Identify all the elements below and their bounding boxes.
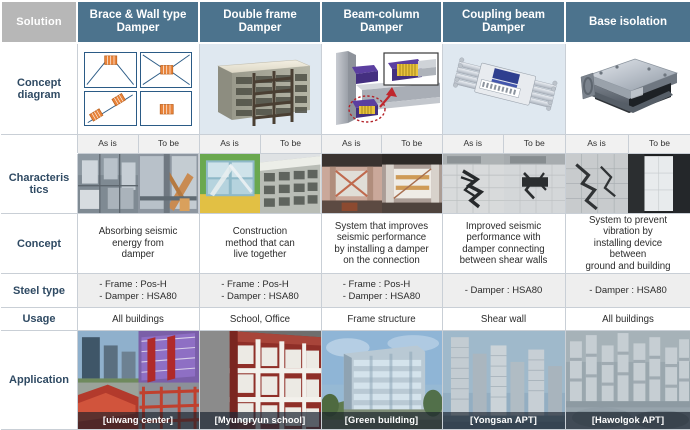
subheader-as-is: As is — [566, 135, 629, 153]
diagram-coupling-beam-damper — [442, 43, 565, 135]
comparison-table: Solution Brace & Wall type Damper Double… — [0, 0, 690, 430]
subheader-group-coupling-beam: As is To be — [442, 135, 565, 154]
row-characteristics: Characteris tics — [1, 153, 690, 213]
characteristics-photos-base-isolation — [565, 153, 690, 213]
subheader-to-be: To be — [382, 135, 442, 153]
header-col-brace-wall[interactable]: Brace & Wall type Damper — [77, 1, 199, 43]
application-caption: [Yongsan APT] — [443, 412, 565, 429]
photo-to-be — [260, 154, 321, 213]
subheader-group-brace-wall: As is To be — [77, 135, 199, 154]
header-col-double-frame[interactable]: Double frame Damper — [199, 1, 321, 43]
subheader-to-be: To be — [504, 135, 565, 153]
header-solution: Solution — [1, 1, 77, 43]
subheader-to-be: To be — [629, 135, 690, 153]
row-label-usage: Usage — [1, 308, 77, 331]
usage-base-isolation: All buildings — [565, 308, 690, 331]
usage-brace-wall: All buildings — [77, 308, 199, 331]
photo-to-be — [138, 154, 199, 213]
concept-double-frame: Construction method that can live togeth… — [199, 214, 321, 274]
diagram-double-frame-damper — [199, 43, 321, 135]
steel-type-brace-wall: - Frame : Pos-H - Damper : HSA80 — [77, 274, 199, 308]
header-col-base-isolation[interactable]: Base isolation — [565, 1, 690, 43]
row-application: Application — [1, 331, 690, 430]
application-double-frame: [Myungryun school] — [199, 331, 321, 430]
steel-type-beam-column: - Frame : Pos-H - Damper : HSA80 — [321, 274, 442, 308]
usage-double-frame: School, Office — [199, 308, 321, 331]
photo-to-be — [628, 154, 690, 213]
subheader-group-base-isolation: As is To be — [565, 135, 690, 154]
row-label-concept-diagram: Concept diagram — [1, 43, 77, 135]
concept-brace-wall: Absorbing seismic energy from damper — [77, 214, 199, 274]
application-beam-column: [Green building] — [321, 331, 442, 430]
row-concept-diagram: Concept diagram — [1, 43, 690, 135]
brace-diagram-grid — [84, 52, 192, 126]
row-label-spacer — [1, 135, 77, 154]
subheader-group-double-frame: As is To be — [199, 135, 321, 154]
solution-comparison-matrix: Solution Brace & Wall type Damper Double… — [0, 0, 690, 430]
characteristics-photos-beam-column — [321, 153, 442, 213]
photo-as-is — [200, 154, 261, 213]
characteristics-photos-coupling-beam — [442, 153, 565, 213]
brace-diagram-x-brace — [140, 52, 193, 88]
brace-diagram-wall-damper — [140, 91, 193, 127]
steel-type-double-frame: - Frame : Pos-H - Damper : HSA80 — [199, 274, 321, 308]
row-concept: Concept Absorbing seismic energy from da… — [1, 214, 690, 274]
photo-to-be — [382, 154, 442, 213]
subheader-group-beam-column: As is To be — [321, 135, 442, 154]
subheader-to-be: To be — [139, 135, 199, 153]
subheader-to-be: To be — [261, 135, 321, 153]
usage-coupling-beam: Shear wall — [442, 308, 565, 331]
application-caption: [Hawolgok APT] — [566, 412, 690, 429]
row-label-steel-type: Steel type — [1, 274, 77, 308]
table-header-row: Solution Brace & Wall type Damper Double… — [1, 1, 690, 43]
row-usage: Usage All buildings School, Office Frame… — [1, 308, 690, 331]
row-steel-type: Steel type - Frame : Pos-H - Damper : HS… — [1, 274, 690, 308]
brace-diagram-diagonal — [84, 91, 137, 127]
usage-beam-column: Frame structure — [321, 308, 442, 331]
photo-as-is — [566, 154, 629, 213]
row-label-concept: Concept — [1, 214, 77, 274]
subheader-as-is: As is — [78, 135, 139, 153]
photo-to-be — [504, 154, 565, 213]
subheader-as-is: As is — [200, 135, 261, 153]
subheader-as-is: As is — [443, 135, 505, 153]
concept-base-isolation: System to prevent vibration by installin… — [565, 214, 690, 274]
application-caption: [Myungryun school] — [200, 412, 321, 429]
steel-type-base-isolation: - Damper : HSA80 — [565, 274, 690, 308]
subheader-as-is: As is — [322, 135, 383, 153]
application-caption: [Green building] — [322, 412, 442, 429]
concept-beam-column: System that improves seismic performance… — [321, 214, 442, 274]
application-base-isolation: [Hawolgok APT] — [565, 331, 690, 430]
photo-as-is — [443, 154, 504, 213]
diagram-brace-wall-damper — [77, 43, 199, 135]
row-label-application: Application — [1, 331, 77, 430]
brace-diagram-chevron-up — [84, 52, 137, 88]
row-label-characteristics: Characteris tics — [1, 153, 77, 213]
diagram-base-isolation-device — [565, 43, 690, 135]
photo-as-is — [78, 154, 139, 213]
header-col-beam-column[interactable]: Beam-column Damper — [321, 1, 442, 43]
concept-coupling-beam: Improved seismic performance with damper… — [442, 214, 565, 274]
photo-as-is — [322, 154, 382, 213]
characteristics-photos-brace-wall — [77, 153, 199, 213]
row-asis-tobe-subheader: As is To be As is To be As is To be As i… — [1, 135, 690, 154]
application-brace-wall: [uiwang center] — [77, 331, 199, 430]
steel-type-coupling-beam: - Damper : HSA80 — [442, 274, 565, 308]
header-col-coupling-beam[interactable]: Coupling beam Damper — [442, 1, 565, 43]
application-caption: [uiwang center] — [78, 412, 199, 429]
application-coupling-beam: [Yongsan APT] — [442, 331, 565, 430]
diagram-beam-column-damper — [321, 43, 442, 135]
characteristics-photos-double-frame — [199, 153, 321, 213]
